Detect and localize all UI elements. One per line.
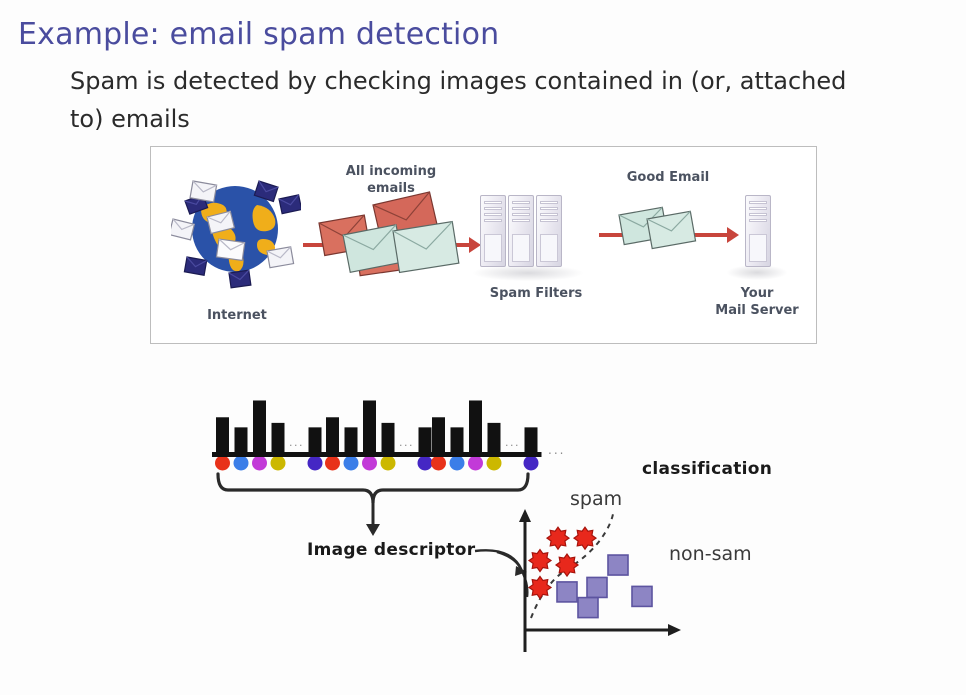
spam-filters-shadow — [473, 265, 583, 281]
histogram-bar — [469, 400, 482, 452]
all-incoming-line1: All incoming — [346, 164, 436, 179]
histogram-baseline — [212, 452, 326, 457]
histogram-bin-dot — [418, 456, 433, 471]
non-spam-class-label: non-sam — [669, 543, 752, 565]
spam-point-marker — [547, 527, 569, 549]
internet-globe-icon — [171, 165, 301, 295]
histogram-bin-dot — [325, 456, 340, 471]
mail-server-line2: Mail Server — [715, 303, 798, 318]
histogram-bin-dot — [468, 456, 483, 471]
histogram-bar — [451, 427, 464, 452]
histogram-bin-dot — [252, 456, 267, 471]
histogram-bin-dot — [431, 456, 446, 471]
scatter-markers-layer — [529, 527, 652, 617]
histogram-ellipsis: ... — [505, 436, 520, 449]
image-descriptor-label: Image descriptor — [307, 540, 475, 560]
non-spam-point-marker — [557, 582, 577, 602]
descriptor-to-scatter-curve — [475, 550, 527, 597]
histogram-brace — [218, 474, 528, 503]
histogram-bar — [382, 423, 395, 452]
scatter-entry-arrow — [497, 552, 527, 576]
non-spam-point-marker — [578, 598, 598, 618]
server-rack — [480, 195, 506, 267]
histogram-bar — [345, 427, 358, 452]
spam-point-marker — [574, 527, 596, 549]
incoming-emails-icon — [301, 187, 481, 297]
histogram-bin-dot — [344, 456, 359, 471]
descriptor-arrow — [366, 524, 380, 536]
scatter-axes — [519, 509, 681, 652]
mail-server-rack — [745, 195, 771, 267]
histogram-trailing-ellipsis: ... — [548, 443, 565, 457]
histogram-bin-dot — [215, 456, 230, 471]
histogram-bin-dot — [381, 456, 396, 471]
histogram-bar — [363, 400, 376, 452]
all-incoming-line2: emails — [367, 181, 415, 196]
server-rack — [536, 195, 562, 267]
mail-server-shadow — [727, 265, 787, 280]
histogram-bar — [253, 400, 266, 452]
decision-boundary — [531, 514, 613, 618]
histogram-bin-dot — [450, 456, 465, 471]
histogram-ellipsis: ... — [289, 436, 304, 449]
spam-point-marker — [529, 576, 551, 598]
histogram-baseline — [428, 452, 542, 457]
slide-body-text: Spam is detected by checking images cont… — [70, 62, 880, 138]
histogram-bar — [326, 417, 339, 452]
good-email-icon — [599, 205, 739, 255]
mail-server-line1: Your — [741, 286, 774, 301]
histogram-bin-dot — [234, 456, 249, 471]
spam-filters-label: Spam Filters — [466, 285, 606, 302]
histogram-baseline — [322, 452, 436, 457]
histogram-bar — [272, 423, 285, 452]
histogram-bin-dot — [308, 456, 323, 471]
histogram-bin-dot — [524, 456, 539, 471]
histogram-bar — [419, 427, 432, 452]
spam-point-marker — [556, 554, 578, 576]
spam-class-label: spam — [570, 488, 622, 510]
histogram-bar — [235, 427, 248, 452]
non-spam-point-marker — [608, 555, 628, 575]
classification-label: classification — [642, 459, 772, 479]
good-email-label: Good Email — [608, 169, 728, 186]
histogram-layer: ............ — [212, 400, 565, 470]
histogram-bin-dot — [362, 456, 377, 471]
histogram-bin-dot — [487, 456, 502, 471]
histogram-bar — [216, 417, 229, 452]
histogram-bin-dot — [271, 456, 286, 471]
non-spam-point-marker — [587, 577, 607, 597]
page-title: Example: email spam detection — [18, 17, 499, 52]
internet-label: Internet — [189, 307, 285, 324]
mail-server-label: Your Mail Server — [707, 285, 807, 319]
non-spam-point-marker — [632, 586, 652, 606]
spam-point-marker — [529, 550, 551, 572]
histogram-bar — [488, 423, 501, 452]
all-incoming-emails-label: All incoming emails — [331, 163, 451, 197]
histogram-bar — [309, 427, 322, 452]
histogram-ellipsis: ... — [399, 436, 414, 449]
histogram-bar — [432, 417, 445, 452]
server-rack — [508, 195, 534, 267]
email-flow-diagram: Internet — [150, 146, 817, 344]
histogram-bar — [525, 427, 538, 452]
